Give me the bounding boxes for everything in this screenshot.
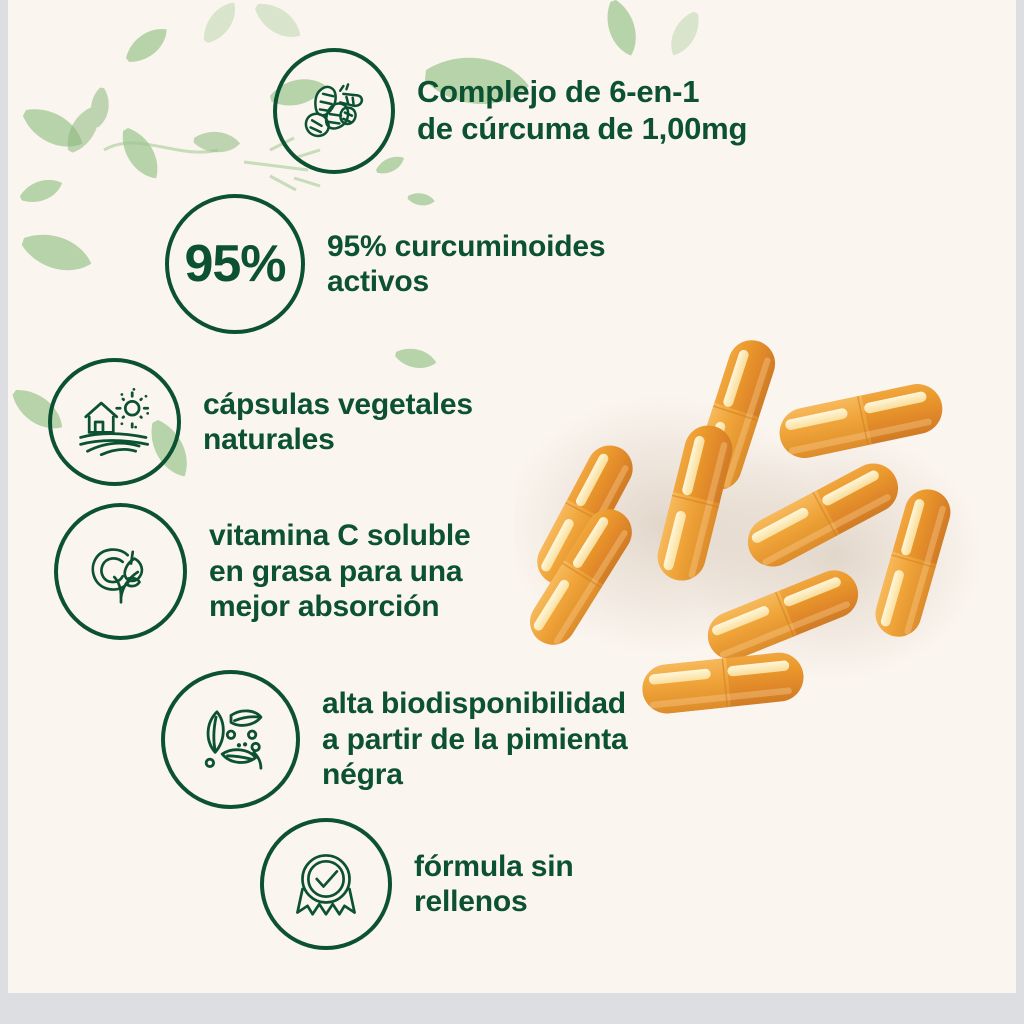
feature-label: cápsulas vegetales naturales	[203, 387, 473, 458]
feature-item-vitamin-c: vitamina C soluble en grasa para una mej…	[54, 503, 470, 640]
percent-badge-icon: 95%	[165, 194, 305, 334]
feature-item-turmeric-complex: Complejo de 6-en-1 de cúrcuma de 1,00mg	[273, 48, 747, 174]
percent-badge-value: 95%	[184, 234, 285, 294]
farm-field-icon	[48, 358, 181, 486]
infographic-canvas: Complejo de 6-en-1 de cúrcuma de 1,00mg …	[8, 0, 1016, 993]
leaves-peppercorn-icon	[161, 670, 300, 809]
feature-label: 95% curcuminoides activos	[327, 229, 605, 300]
feature-item-bioavailability: alta biodisponibilidad a partir de la pi…	[161, 670, 628, 809]
turmeric-root-icon	[273, 48, 395, 174]
feature-label: Complejo de 6-en-1 de cúrcuma de 1,00mg	[417, 74, 747, 147]
feature-item-vegetal-capsules: cápsulas vegetales naturales	[48, 358, 473, 486]
capsule	[640, 650, 806, 716]
feature-label: vitamina C soluble en grasa para una mej…	[209, 518, 470, 624]
feature-item-curcuminoids: 95% 95% curcuminoides activos	[165, 194, 605, 334]
vitamin-c-plant-icon	[54, 503, 187, 640]
feature-label: fórmula sin rellenos	[414, 849, 574, 920]
award-check-icon	[260, 818, 392, 950]
feature-label: alta biodisponibilidad a partir de la pi…	[322, 686, 628, 792]
feature-item-no-fillers: fórmula sin rellenos	[260, 818, 574, 950]
infographic-stage: Complejo de 6-en-1 de cúrcuma de 1,00mg …	[0, 0, 1024, 1024]
